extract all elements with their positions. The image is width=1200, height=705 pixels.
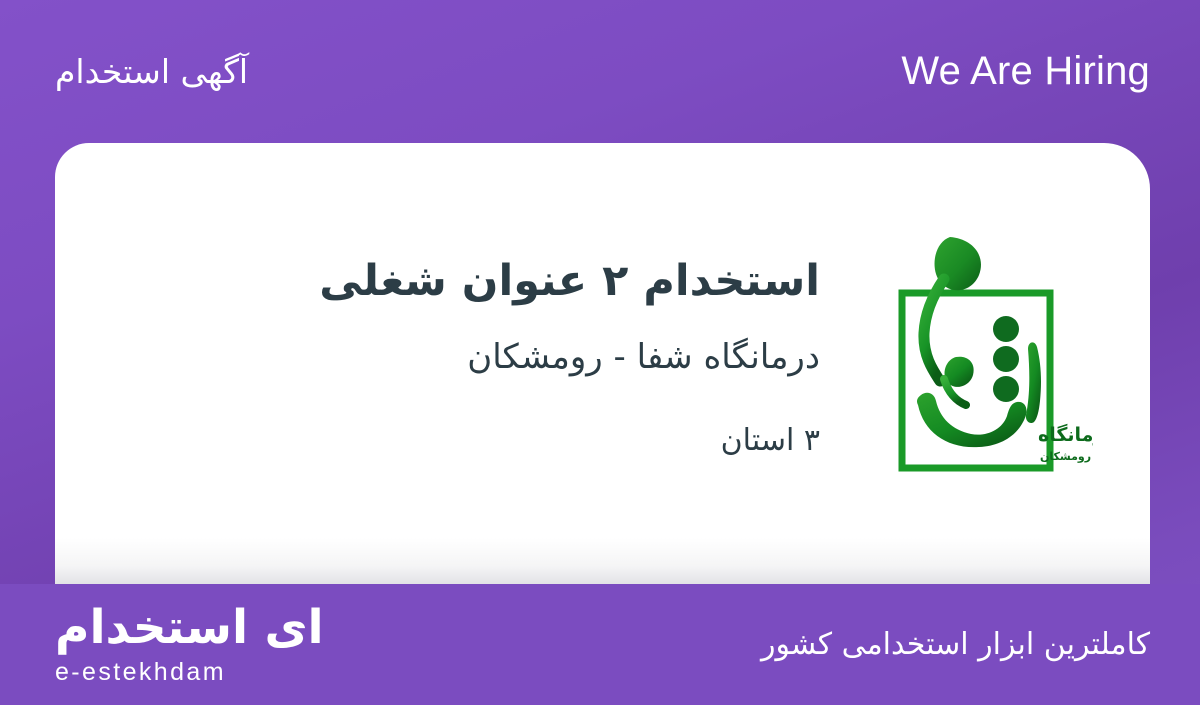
company-logo-container: درمانگاه شبانه روزی شفاء رومشکان: [820, 143, 1150, 584]
job-info-block: استخدام ۲ عنوان شغلی درمانگاه شفا - رومش…: [55, 253, 820, 475]
header-persian-title: آگهی استخدام: [55, 52, 248, 91]
poster-footer: کاملترین ابزار استخدامی کشور ای استخدام …: [0, 584, 1200, 705]
e-estekhdam-logo: ای استخدام e-estekhdam: [55, 604, 324, 685]
poster-header: We Are Hiring آگهی استخدام: [0, 0, 1200, 143]
job-title: استخدام ۲ عنوان شغلی: [107, 253, 820, 310]
job-ad-card: استخدام ۲ عنوان شغلی درمانگاه شفا - رومش…: [55, 143, 1150, 584]
province-count: ۳ استان: [107, 421, 820, 460]
header-english-title: We Are Hiring: [901, 49, 1150, 94]
job-ad-poster: We Are Hiring آگهی استخدام استخدام ۲ عنو…: [0, 0, 1200, 705]
brand-name-persian: ای استخدام: [55, 604, 324, 651]
company-name: درمانگاه شفا - رومشکان: [107, 335, 820, 381]
svg-text:درمانگاه: درمانگاه: [1038, 423, 1093, 446]
brand-name-latin: e-estekhdam: [55, 660, 226, 685]
shafa-clinic-logo-icon: درمانگاه شبانه روزی شفاء رومشکان: [878, 229, 1093, 499]
svg-text:شبانه روزی شفاء رومشکان: شبانه روزی شفاء رومشکان: [1040, 450, 1093, 463]
footer-slogan: کاملترین ابزار استخدامی کشور: [761, 627, 1150, 662]
